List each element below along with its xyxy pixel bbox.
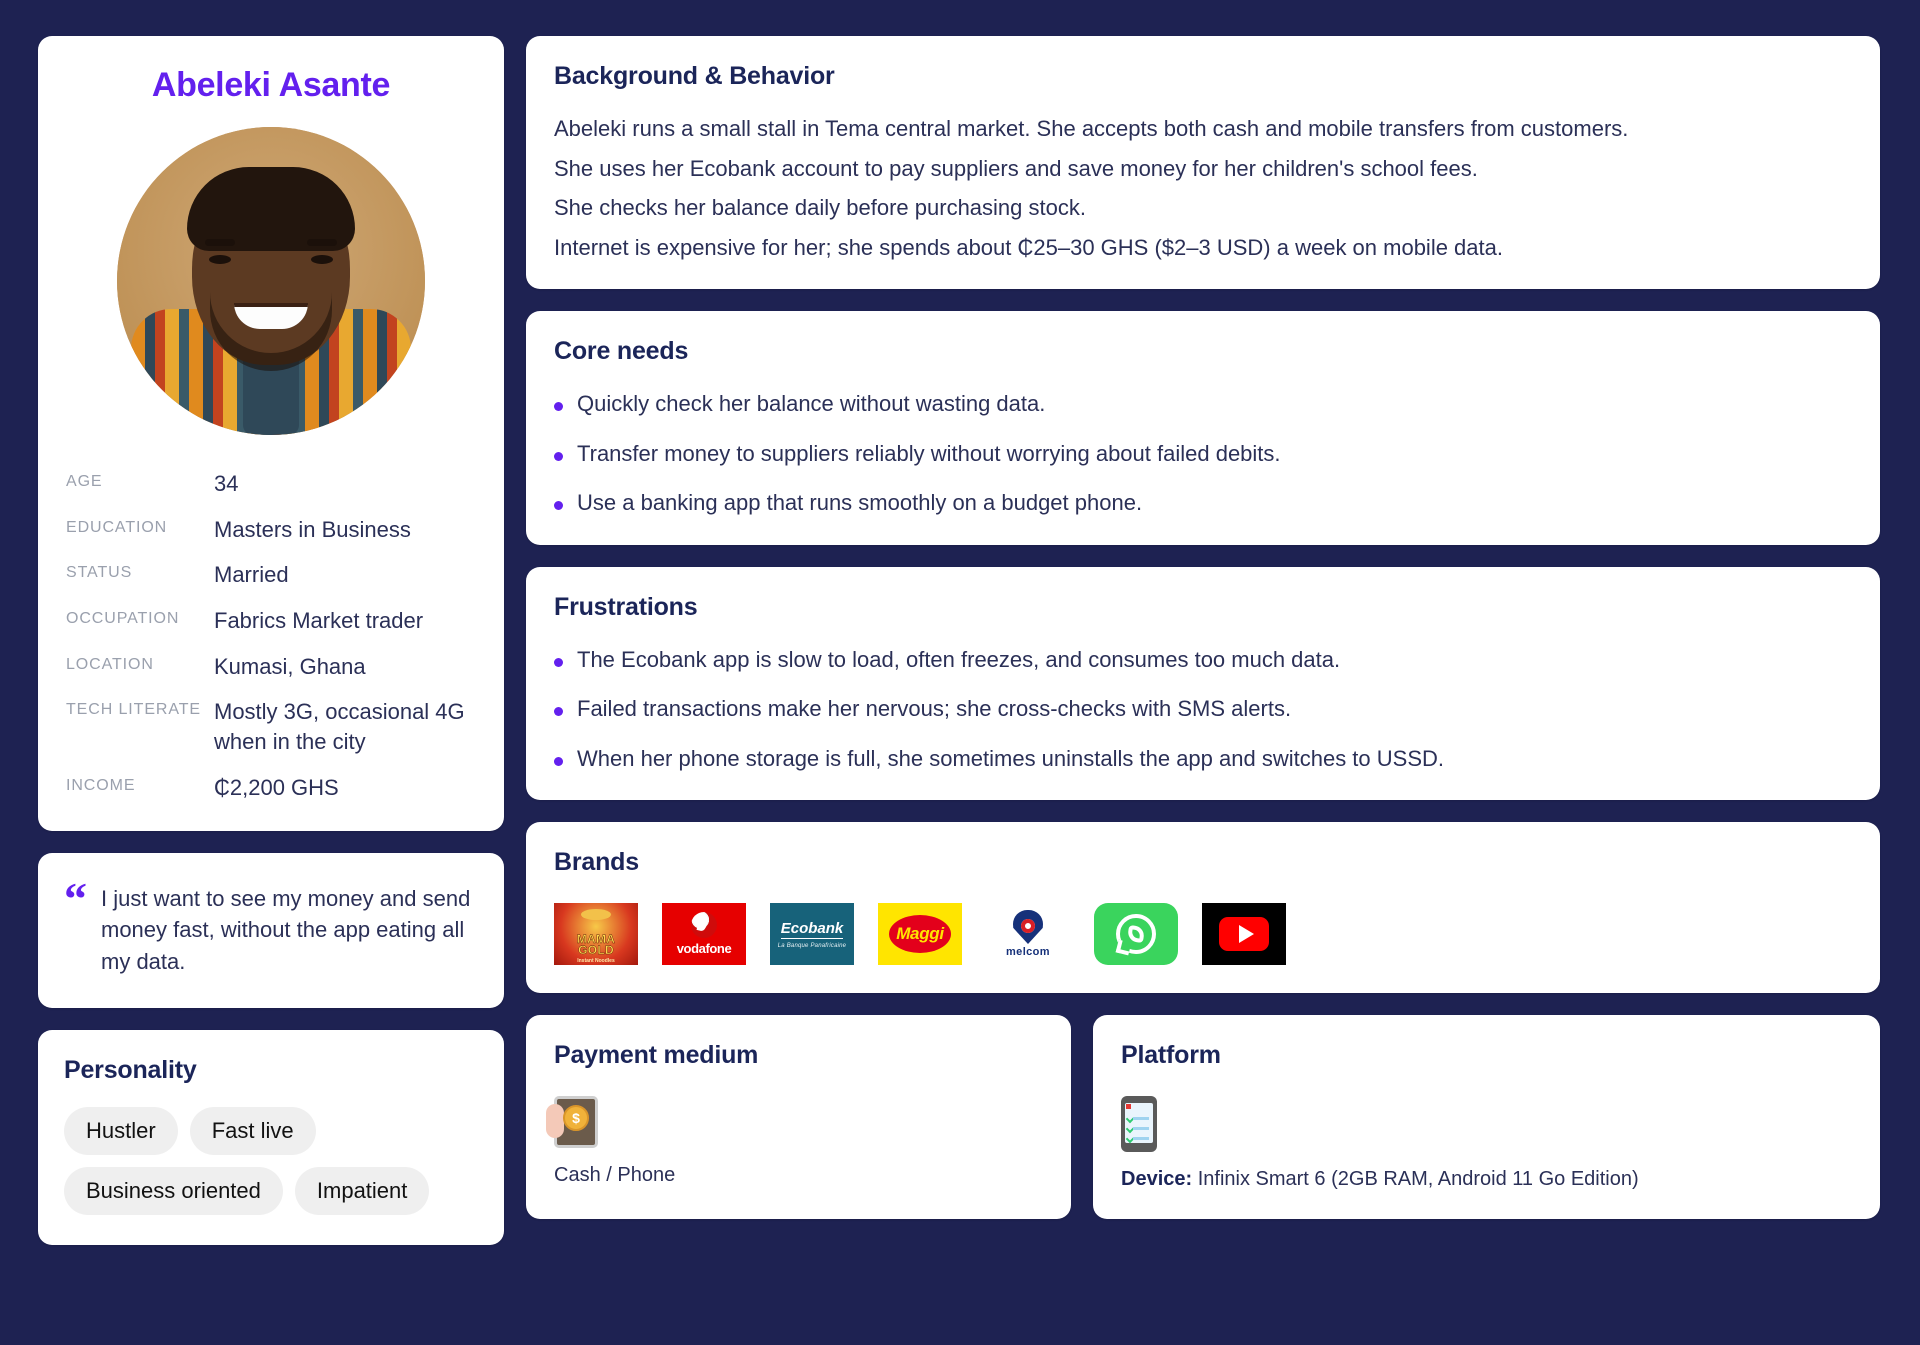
hand-shape	[546, 1104, 564, 1138]
whatsapp-handset-shape	[1127, 925, 1145, 943]
brand-mama-gold[interactable]: MAMA GOLD Instant Noodles	[554, 903, 638, 965]
background-paragraph: She uses her Ecobank account to pay supp…	[554, 155, 1852, 183]
avatar-brow-left	[205, 239, 235, 246]
brand-youtube[interactable]	[1202, 903, 1286, 965]
youtube-play-triangle	[1239, 925, 1254, 943]
avatar-eye-right	[311, 255, 333, 264]
payment-medium-title: Payment medium	[554, 1041, 1043, 1070]
screen-line	[1133, 1117, 1149, 1120]
brand-maggi[interactable]: Maggi	[878, 903, 962, 965]
attribute-value-status: Married	[214, 560, 476, 590]
whatsapp-logo-icon	[1094, 903, 1178, 965]
quote-card: “ I just want to see my money and send m…	[38, 853, 504, 1008]
melcom-logo-icon: melcom	[986, 903, 1070, 965]
mama-gold-line3: Instant Noodles	[554, 958, 638, 964]
platform-device-label: Device:	[1121, 1168, 1192, 1190]
vodafone-logo-icon: vodafone	[662, 903, 746, 965]
maggi-wordmark: Maggi	[896, 924, 944, 944]
personality-tag[interactable]: Business oriented	[64, 1167, 283, 1215]
whatsapp-tail-shape	[1116, 940, 1132, 956]
personality-tag[interactable]: Impatient	[295, 1167, 430, 1215]
core-need-text: Transfer money to suppliers reliably wit…	[577, 440, 1281, 468]
attribute-label-tech: TECH LITERATE	[66, 697, 204, 756]
frustrations-list: The Ecobank app is slow to load, often f…	[554, 646, 1852, 773]
bottom-row: Payment medium $ Cash / Phone Platform	[526, 1015, 1880, 1219]
brand-vodafone[interactable]: vodafone	[662, 903, 746, 965]
attribute-label-education: EDUCATION	[66, 515, 204, 545]
background-paragraph: Internet is expensive for her; she spend…	[554, 234, 1852, 262]
payment-medium-label: Cash / Phone	[554, 1164, 1043, 1187]
page-title: Abeleki Asante	[64, 66, 478, 105]
screen-line	[1133, 1127, 1149, 1130]
brand-melcom[interactable]: melcom	[986, 903, 1070, 965]
attribute-value-tech: Mostly 3G, occasional 4G when in the cit…	[214, 697, 476, 756]
list-item: Quickly check her balance without wastin…	[554, 390, 1852, 418]
bullet-dot-icon	[554, 402, 563, 411]
attribute-value-income: ₵2,200 GHS	[214, 773, 476, 803]
attribute-label-age: AGE	[66, 469, 204, 499]
youtube-logo-icon	[1202, 903, 1286, 965]
coin-shape: $	[563, 1105, 589, 1131]
melcom-wordmark: melcom	[1006, 946, 1050, 958]
ecobank-logo-icon: Ecobank La Banque Panafricaine	[770, 903, 854, 965]
background-paragraph: Abeleki runs a small stall in Tema centr…	[554, 115, 1852, 143]
personality-card: Personality Hustler Fast live Business o…	[38, 1030, 504, 1245]
core-needs-card: Core needs Quickly check her balance wit…	[526, 311, 1880, 545]
ecobank-tagline: La Banque Panafricaine	[778, 943, 846, 949]
frustration-text: When her phone storage is full, she some…	[577, 745, 1444, 773]
mobile-money-icon: $	[554, 1096, 598, 1148]
frustrations-card: Frustrations The Ecobank app is slow to …	[526, 567, 1880, 801]
bullet-dot-icon	[554, 658, 563, 667]
background-paragraph: She checks her balance daily before purc…	[554, 194, 1852, 222]
mama-gold-logo-icon: MAMA GOLD Instant Noodles	[554, 903, 638, 965]
core-need-text: Quickly check her balance without wastin…	[577, 390, 1045, 418]
background-paragraphs: Abeleki runs a small stall in Tema centr…	[554, 115, 1852, 261]
vodafone-mark-shape	[691, 912, 717, 938]
ecobank-wordmark: Ecobank	[781, 920, 844, 939]
bullet-dot-icon	[554, 707, 563, 716]
attribute-label-occupation: OCCUPATION	[66, 606, 204, 636]
list-item: When her phone storage is full, she some…	[554, 745, 1852, 773]
left-column: Abeleki Asante AGE	[38, 36, 504, 1305]
personality-title: Personality	[64, 1056, 478, 1085]
avatar-wrapper	[64, 127, 478, 435]
attribute-value-location: Kumasi, Ghana	[214, 652, 476, 682]
mama-gold-hat-shape	[581, 909, 611, 920]
platform-title: Platform	[1121, 1041, 1852, 1070]
core-need-text: Use a banking app that runs smoothly on …	[577, 489, 1142, 517]
frustration-text: The Ecobank app is slow to load, often f…	[577, 646, 1340, 674]
brand-whatsapp[interactable]	[1094, 903, 1178, 965]
personality-tag[interactable]: Fast live	[190, 1107, 316, 1155]
personality-tag[interactable]: Hustler	[64, 1107, 178, 1155]
attribute-label-status: STATUS	[66, 560, 204, 590]
bullet-dot-icon	[554, 452, 563, 461]
background-title: Background & Behavior	[554, 62, 1852, 91]
maggi-logo-icon: Maggi	[878, 903, 962, 965]
bullet-dot-icon	[554, 501, 563, 510]
quote-text: I just want to see my money and send mon…	[101, 881, 474, 978]
persona-page: Abeleki Asante AGE	[0, 0, 1920, 1345]
platform-card: Platform Device: Infinix Smart 6 (2GB RA…	[1093, 1015, 1880, 1219]
list-item: Transfer money to suppliers reliably wit…	[554, 440, 1852, 468]
core-needs-title: Core needs	[554, 337, 1852, 366]
vodafone-wordmark: vodafone	[677, 941, 732, 956]
attribute-label-location: LOCATION	[66, 652, 204, 682]
attribute-label-income: INCOME	[66, 773, 204, 803]
platform-device-value: Infinix Smart 6 (2GB RAM, Android 11 Go …	[1198, 1168, 1639, 1190]
notification-dot-shape	[1126, 1104, 1131, 1109]
youtube-rounded-rect	[1219, 917, 1269, 951]
maggi-oval-shape: Maggi	[889, 915, 951, 953]
attribute-value-occupation: Fabrics Market trader	[214, 606, 476, 636]
avatar	[117, 127, 425, 435]
brands-title: Brands	[554, 848, 1852, 877]
attribute-value-education: Masters in Business	[214, 515, 476, 545]
background-behavior-card: Background & Behavior Abeleki runs a sma…	[526, 36, 1880, 289]
right-column: Background & Behavior Abeleki runs a sma…	[526, 36, 1880, 1305]
bullet-dot-icon	[554, 757, 563, 766]
brand-ecobank[interactable]: Ecobank La Banque Panafricaine	[770, 903, 854, 965]
list-item: The Ecobank app is slow to load, often f…	[554, 646, 1852, 674]
avatar-eye-left	[209, 255, 231, 264]
core-needs-list: Quickly check her balance without wastin…	[554, 390, 1852, 517]
profile-card: Abeleki Asante AGE	[38, 36, 504, 831]
mama-gold-line2: GOLD	[554, 943, 638, 957]
attribute-value-age: 34	[214, 469, 476, 499]
personality-tag-list: Hustler Fast live Business oriented Impa…	[64, 1107, 478, 1215]
screen-line	[1133, 1137, 1149, 1140]
payment-medium-card: Payment medium $ Cash / Phone	[526, 1015, 1071, 1219]
avatar-brow-right	[307, 239, 337, 246]
frustration-text: Failed transactions make her nervous; sh…	[577, 695, 1291, 723]
vodafone-comma-shape	[697, 915, 709, 932]
smartphone-checklist-icon	[1121, 1096, 1157, 1152]
quote-icon: “	[64, 881, 87, 978]
brands-list: MAMA GOLD Instant Noodles vodafone	[554, 903, 1852, 965]
list-item: Use a banking app that runs smoothly on …	[554, 489, 1852, 517]
list-item: Failed transactions make her nervous; sh…	[554, 695, 1852, 723]
whatsapp-bubble-shape	[1116, 914, 1156, 954]
platform-device-text: Device: Infinix Smart 6 (2GB RAM, Androi…	[1121, 1168, 1852, 1191]
frustrations-title: Frustrations	[554, 593, 1852, 622]
melcom-pin-shape	[1013, 910, 1043, 944]
brands-card: Brands MAMA GOLD Instant Noodles	[526, 822, 1880, 993]
profile-attributes: AGE 34 EDUCATION Masters in Business STA…	[64, 469, 478, 803]
